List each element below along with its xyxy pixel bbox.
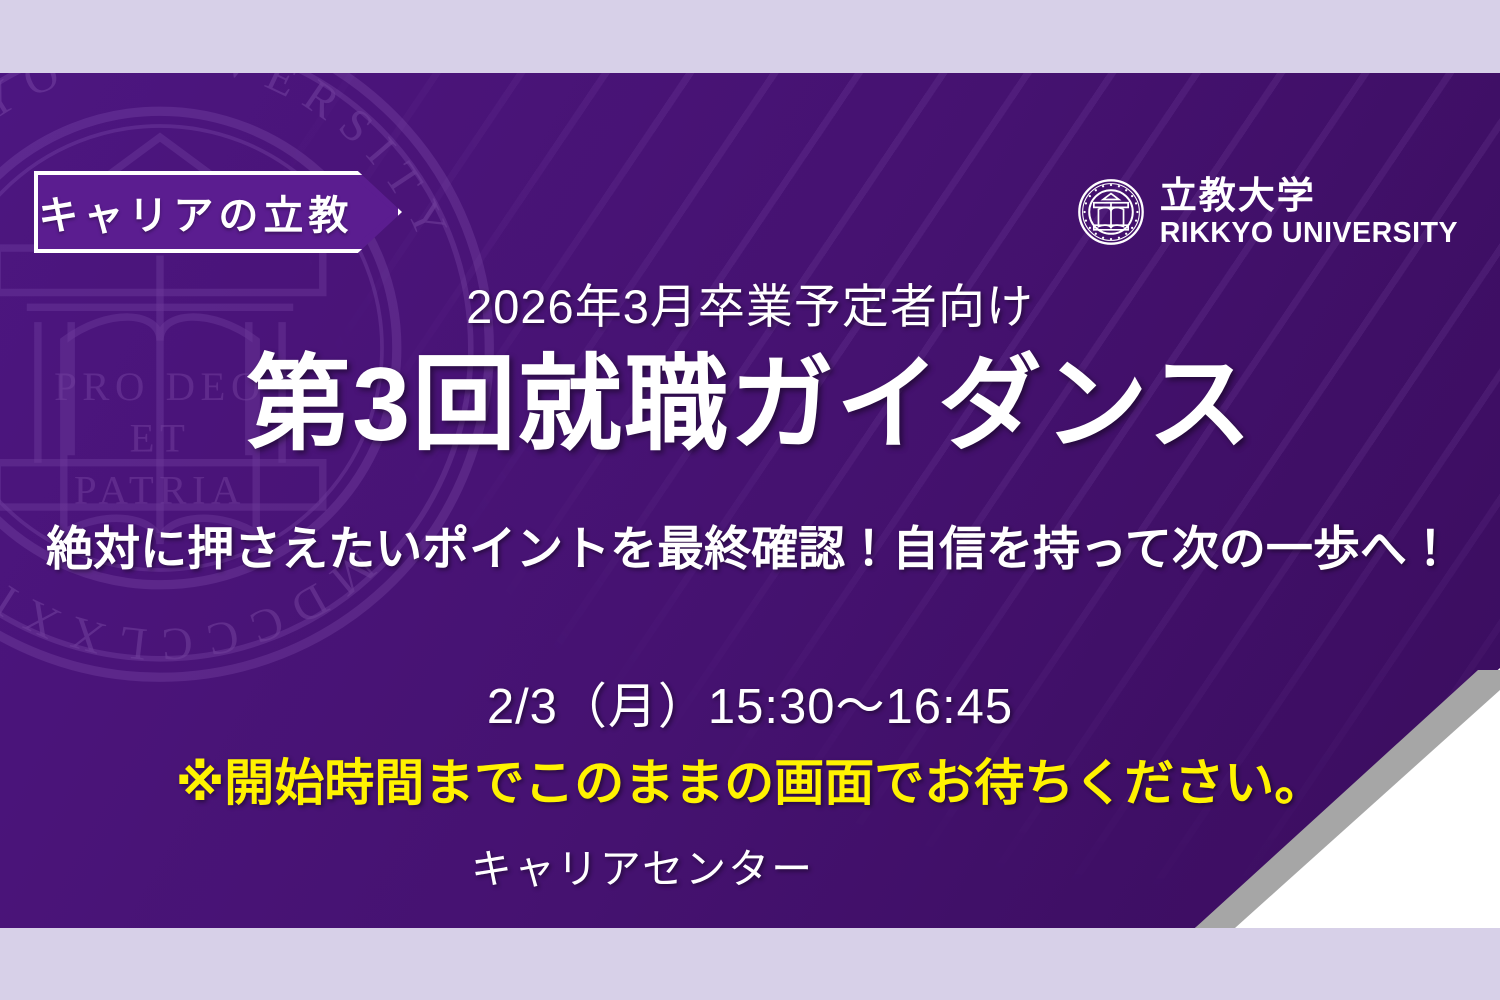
headline-title: 第3回就職ガイダンス — [0, 353, 1500, 457]
presentation-slide: RIKKYO UNIVERSITY MDCCCLXXIV PRO DEO — [0, 0, 1500, 1000]
career-badge: キャリアの立教 — [34, 171, 402, 253]
datetime-text: 2/3（月）15:30〜16:45 — [0, 667, 1500, 738]
rikkyo-seal-icon — [1078, 179, 1144, 245]
university-logo: 立教大学 RIKKYO UNIVERSITY — [1078, 177, 1458, 248]
svg-text:PATRIA: PATRIA — [74, 467, 246, 512]
logo-name-en: RIKKYO UNIVERSITY — [1160, 219, 1458, 248]
slide-stage: RIKKYO UNIVERSITY MDCCCLXXIV PRO DEO — [0, 73, 1500, 928]
logo-name-jp: 立教大学 — [1160, 177, 1458, 214]
badge-label: キャリアの立教 — [34, 171, 358, 253]
notice-text: ※開始時間までこのままの画面でお待ちください。 — [0, 743, 1500, 815]
signature-text: キャリアセンター — [0, 835, 1500, 895]
letterbox-bar-top — [0, 0, 1500, 73]
tagline-text: 絶対に押さえたいポイントを最終確認！自信を持って次の一歩へ！ — [0, 510, 1500, 579]
letterbox-bar-bottom — [0, 928, 1500, 1000]
eyebrow-text: 2026年3月卒業予定者向け — [0, 268, 1500, 337]
logo-wordmark: 立教大学 RIKKYO UNIVERSITY — [1160, 177, 1458, 248]
